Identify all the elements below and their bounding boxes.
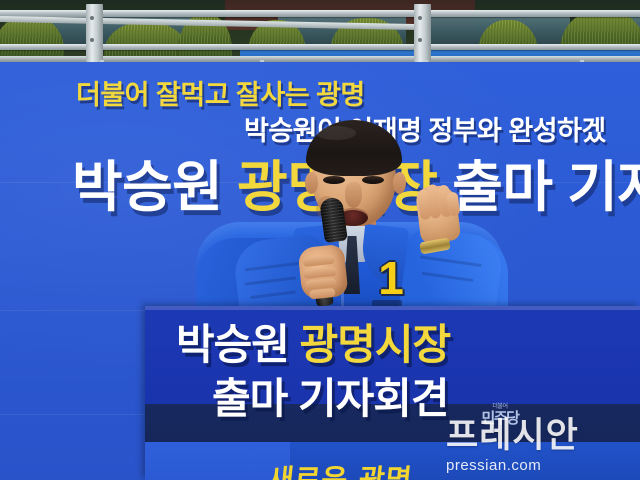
party-logo-top-text: 더불어 <box>474 404 526 410</box>
hair <box>306 120 402 176</box>
candidate-number-badge: 1 <box>374 254 408 302</box>
bottom-brush-slogan: 새로운 광명 <box>266 458 415 480</box>
nose <box>345 182 362 208</box>
press-conference-photo: 더불어 잘먹고 잘사는 광명 박승원이 이재명 정부와 완성하겠 박승원 광명시… <box>0 0 640 480</box>
eye-left <box>323 176 345 184</box>
party-logo-main-text: 민주당 <box>474 410 526 428</box>
party-logo: 더불어 민주당 <box>474 404 526 434</box>
raised-hand <box>415 184 462 244</box>
podium-sign-line-2: 출마 기자회견 <box>212 378 449 420</box>
ear-right <box>393 172 406 194</box>
ear-left <box>305 172 318 194</box>
podium-sign-highlight: 광명시장 <box>300 321 451 368</box>
hand-holding-microphone <box>297 244 348 301</box>
eye-right <box>362 176 384 184</box>
podium-top-edge <box>145 306 640 310</box>
podium-sign-name: 박승원 <box>176 321 300 368</box>
podium-sign-line-1: 박승원 광명시장 <box>176 324 450 366</box>
